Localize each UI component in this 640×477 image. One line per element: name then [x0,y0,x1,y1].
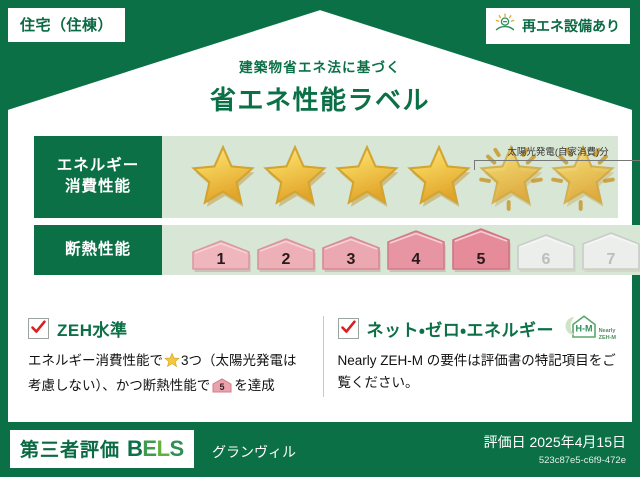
logo-sub-line2: ZEH-M [599,335,616,341]
grade-marker-achieved: 4 [385,229,447,273]
grade-number: 6 [542,251,551,268]
star-filled [188,143,258,211]
solar-bracket-annotation: 太陽光発電(自家消費)分 [474,144,640,170]
grade-number: 5 [477,251,486,268]
zeh-desc-part3: を達成 [234,378,275,393]
zeh-checkbox [28,318,49,339]
svg-text:H-M: H-M [575,324,592,334]
grade-number: 7 [607,251,616,268]
zeh-description: エネルギー消費性能で3つ（太陽光発電は考慮しない）、かつ断熱性能で5を達成 [28,350,307,397]
nze-heading: ネット・ゼロ・エネルギー [367,316,555,341]
certificate-id: 523c87e5-c6f9-472e [484,455,626,466]
grade-marker-empty: 7 [580,231,640,273]
inline-star-icon [164,352,180,375]
star-filled [332,143,402,211]
insulation-row-label: 断熱性能 [34,225,162,275]
inline-grade-badge: 5 [212,378,232,393]
grade-marker-achieved: 3 [320,235,382,273]
zeh-heading-row: ZEH水準 [28,316,307,341]
zeh-m-house-icon: H-M [563,313,597,344]
zeh-desc-part1: エネルギー消費性能で [28,353,163,368]
renewable-equipment-badge: 再エネ設備あり [486,8,630,44]
grade-marker-achieved: 1 [190,239,252,273]
eval-date-label: 評価日 [484,434,526,450]
performance-rows: エネルギー 消費性能 [34,136,606,275]
insulation-row-body: 1 2 3 4 5 [162,225,640,275]
grade-number: 4 [412,251,421,268]
label-footer: 第三者評価 BELS グランヴィル 評価日 2025年4月15日 523c87e… [0,422,640,477]
evaluation-date: 評価日 2025年4月15日 [484,432,626,452]
insulation-performance-row: 断熱性能 1 2 3 4 [34,225,606,275]
zeh-m-logo-subtext: Nearly ZEH-M [599,328,616,344]
grade-marker-achieved: 2 [255,237,317,273]
grade-marker-empty: 6 [515,233,577,273]
energy-performance-label: 住宅（住棟） 再エネ設備あり 建築物省エネ法に基づく 省エネ性能ラベル いい [0,0,640,477]
svg-text:5: 5 [220,382,225,392]
eval-date-value: 2025年4月15日 [529,434,626,450]
net-zero-energy-column: ネット・ゼロ・エネルギー H-M Nearly ZEH-M N [323,316,617,397]
insulation-label: 断熱性能 [65,240,131,261]
energy-row-label: エネルギー 消費性能 [34,136,162,218]
zeh-m-logo: H-M Nearly ZEH-M [563,313,616,344]
energy-performance-row: エネルギー 消費性能 [34,136,606,218]
third-party-label: 第三者評価 [20,435,120,462]
renewable-label: 再エネ設備あり [522,16,620,36]
star-filled [260,143,330,211]
evaluation-info: 評価日 2025年4月15日 523c87e5-c6f9-472e [484,432,626,466]
grade-marker-achieved: 5 [450,227,512,273]
bels-logo: BELS [127,436,184,462]
building-type-badge: 住宅（住棟） [8,8,125,42]
bels-badge: 第三者評価 BELS [10,430,194,468]
zeh-standard-column: ZEH水準 エネルギー消費性能で3つ（太陽光発電は考慮しない）、かつ断熱性能で5… [28,316,307,397]
nze-checkbox [338,318,359,339]
nze-heading-row: ネット・ゼロ・エネルギー H-M Nearly ZEH-M [338,316,617,341]
energy-label-line2: 消費性能 [65,177,131,198]
page-title: 省エネ性能ラベル [0,80,640,117]
zeh-heading: ZEH水準 [57,316,128,341]
solar-caption: 太陽光発電(自家消費)分 [474,144,640,158]
nze-description: Nearly ZEH-M の要件は評価書の特記項目をご覧ください。 [338,350,617,394]
grade-number: 1 [217,251,226,268]
title-block: 建築物省エネ法に基づく 省エネ性能ラベル [0,56,640,117]
building-type-label: 住宅（住棟） [20,17,113,34]
star-filled [404,143,474,211]
bracket-line [474,160,640,170]
sun-icon [494,13,516,38]
grade-number: 3 [347,251,356,268]
title-subtitle: 建築物省エネ法に基づく [0,56,640,76]
insulation-grade-scale: 1 2 3 4 5 [162,227,640,273]
criteria-columns: ZEH水準 エネルギー消費性能で3つ（太陽光発電は考慮しない）、かつ断熱性能で5… [28,316,616,397]
energy-row-body: 太陽光発電(自家消費)分 [162,136,618,218]
property-name: グランヴィル [212,442,296,462]
energy-label-line1: エネルギー [57,156,140,177]
logo-sub-line1: Nearly [599,328,616,334]
grade-number: 2 [282,251,291,268]
